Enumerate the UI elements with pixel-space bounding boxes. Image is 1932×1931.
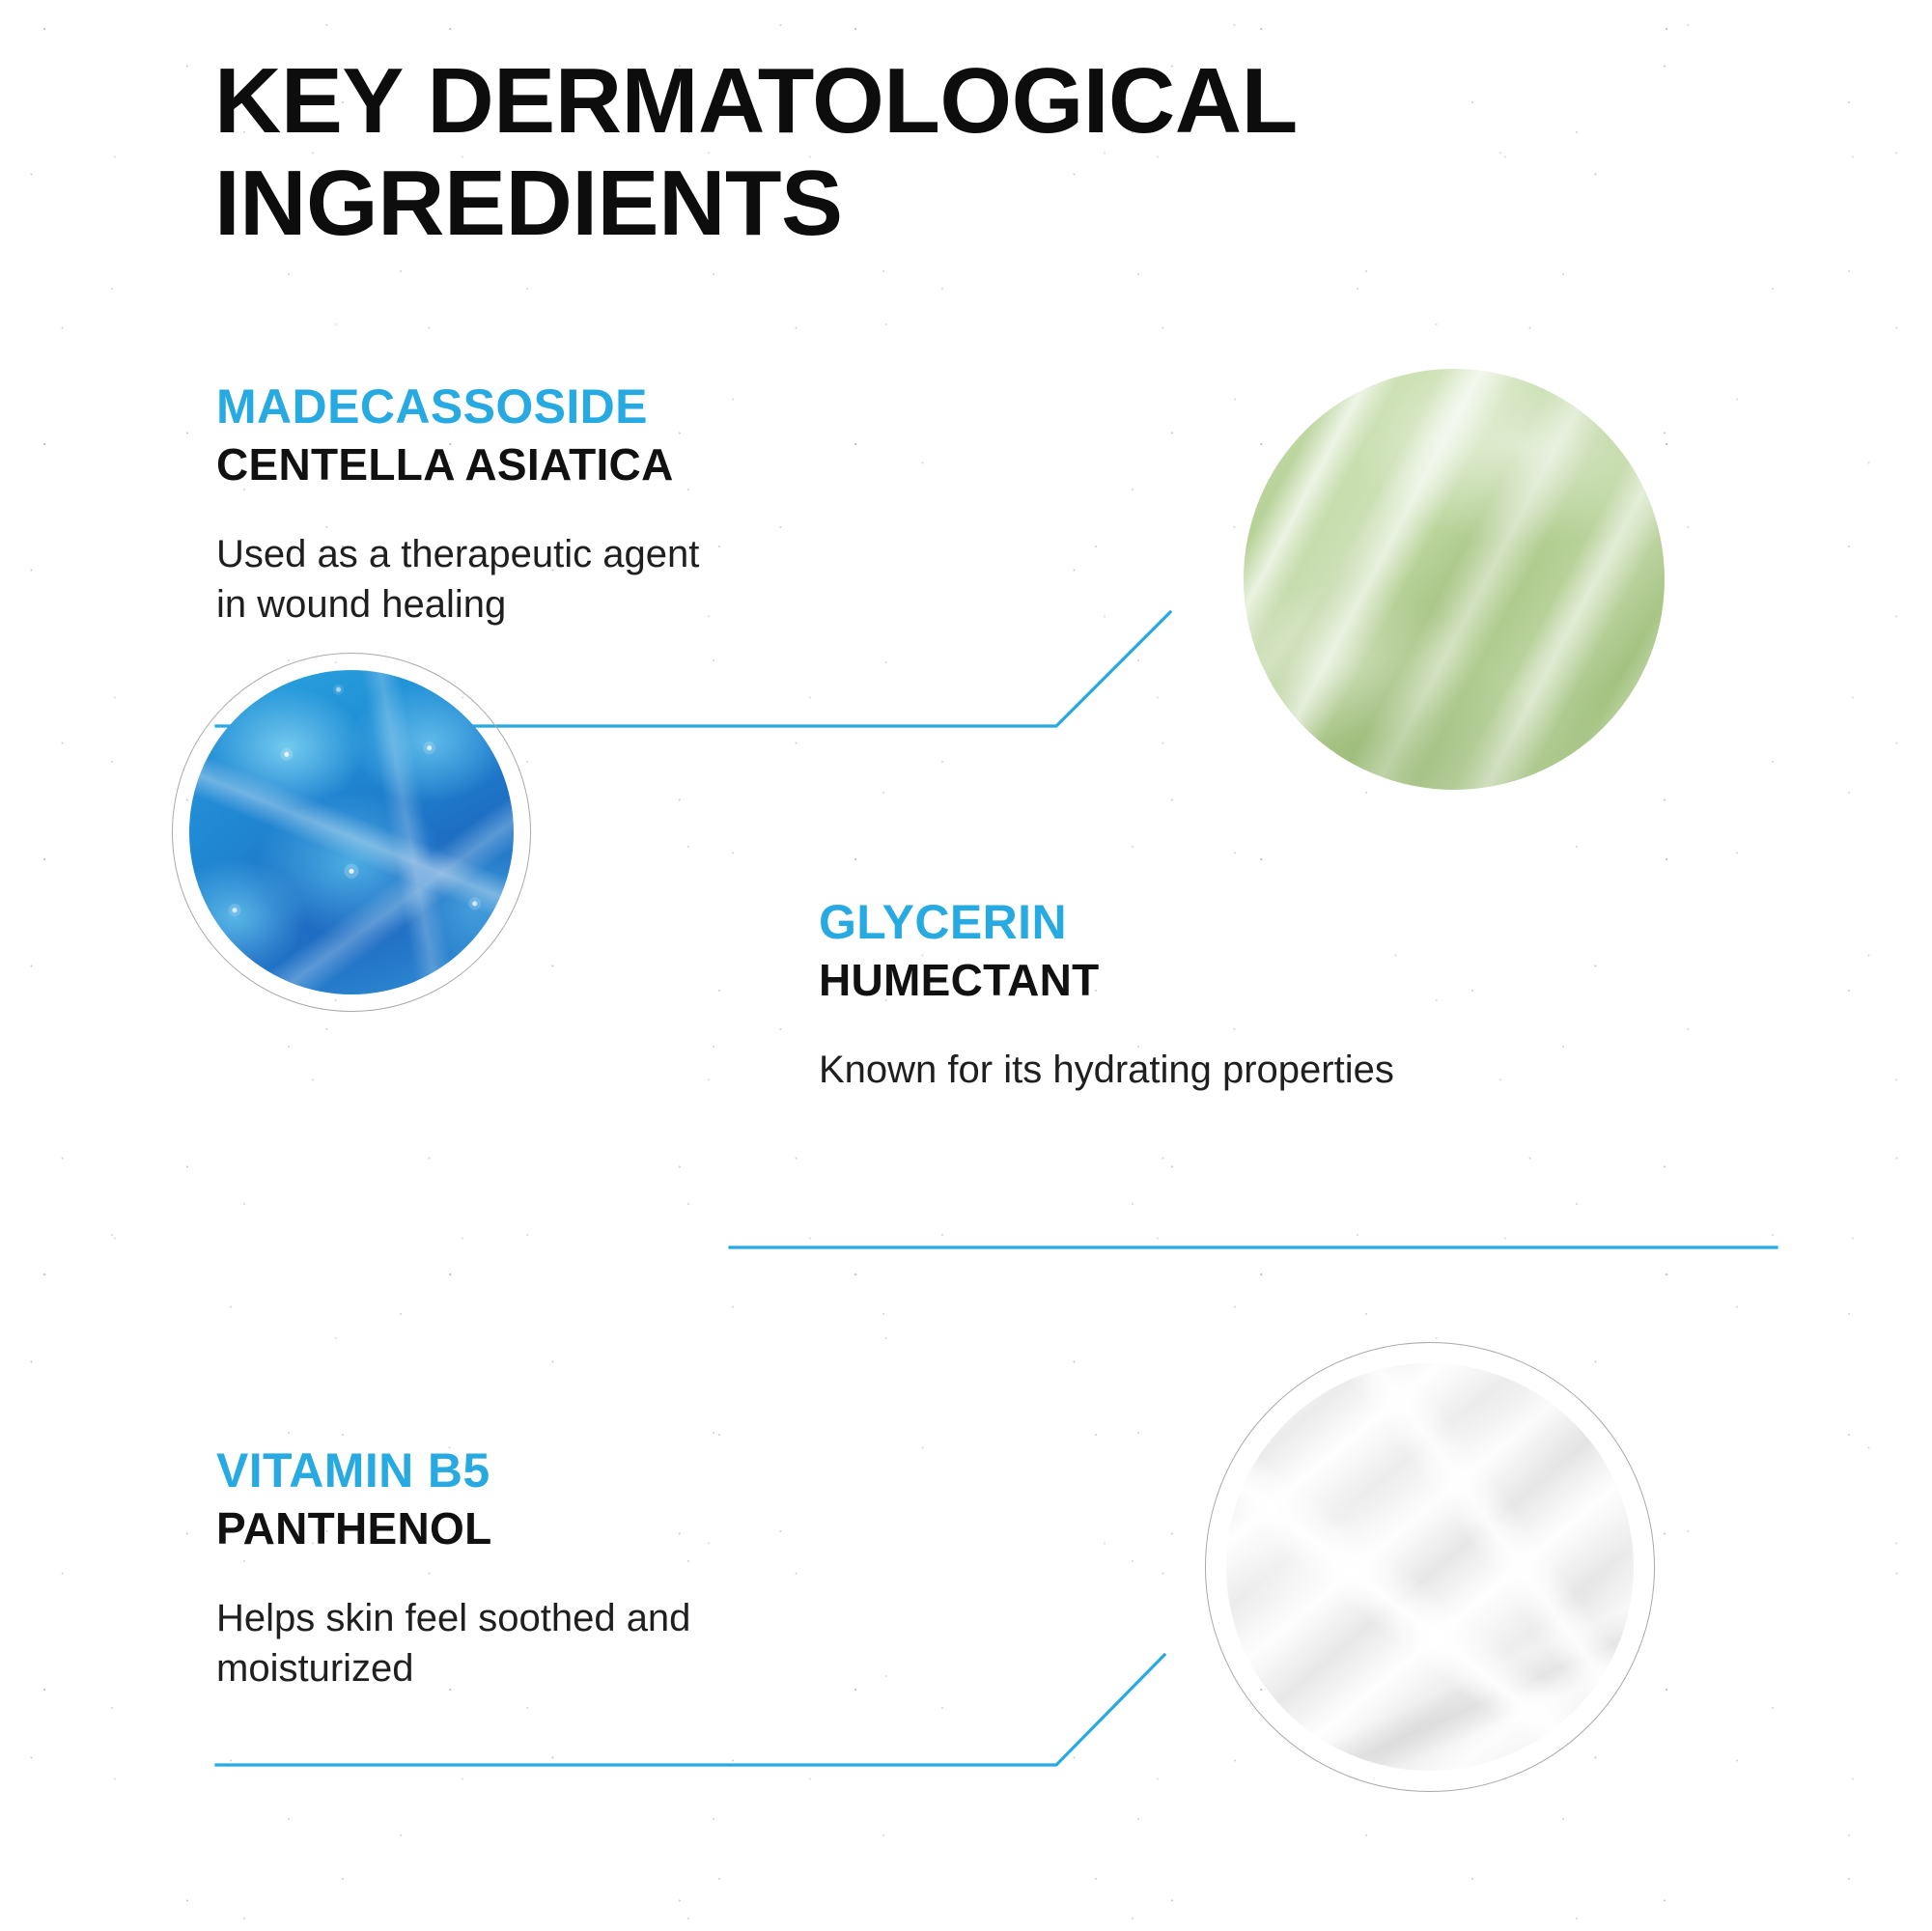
ingredient-subtitle-centella-asiatica: CENTELLA ASIATICA [216,442,950,487]
ingredient-block-madecassoside: MADECASSOSIDE CENTELLA ASIATICA Used as … [216,382,950,630]
infographic-canvas: KEY DERMATOLOGICAL INGREDIENTS MADECASSO… [0,0,1932,1931]
white-cream-swatch-circle [1205,1342,1655,1792]
ingredient-description-madecassoside: Used as a therapeutic agent in wound hea… [216,529,950,630]
ingredient-subtitle-panthenol: PANTHENOL [216,1506,950,1551]
ingredient-description-vitamin-b5: Helps skin feel soothed and moisturized [216,1593,950,1693]
ingredient-name-madecassoside: MADECASSOSIDE [216,382,950,431]
blue-bubbles-swatch-circle [172,653,531,1012]
ingredient-description-glycerin: Known for its hydrating properties [819,1045,1649,1095]
green-cream-swatch-circle [1244,369,1665,790]
ingredient-subtitle-humectant: HUMECTANT [819,958,1649,1002]
page-title: KEY DERMATOLOGICAL INGREDIENTS [214,50,1566,254]
white-cream-texture [1226,1363,1634,1771]
ingredient-name-glycerin: GLYCERIN [819,898,1649,946]
blue-bubbles-texture [189,670,514,994]
ingredient-block-vitamin-b5: VITAMIN B5 PANTHENOL Helps skin feel soo… [216,1446,950,1693]
ingredient-name-vitamin-b5: VITAMIN B5 [216,1446,950,1495]
ingredient-block-glycerin: GLYCERIN HUMECTANT Known for its hydrati… [819,898,1649,1095]
green-cream-texture [1244,369,1665,790]
